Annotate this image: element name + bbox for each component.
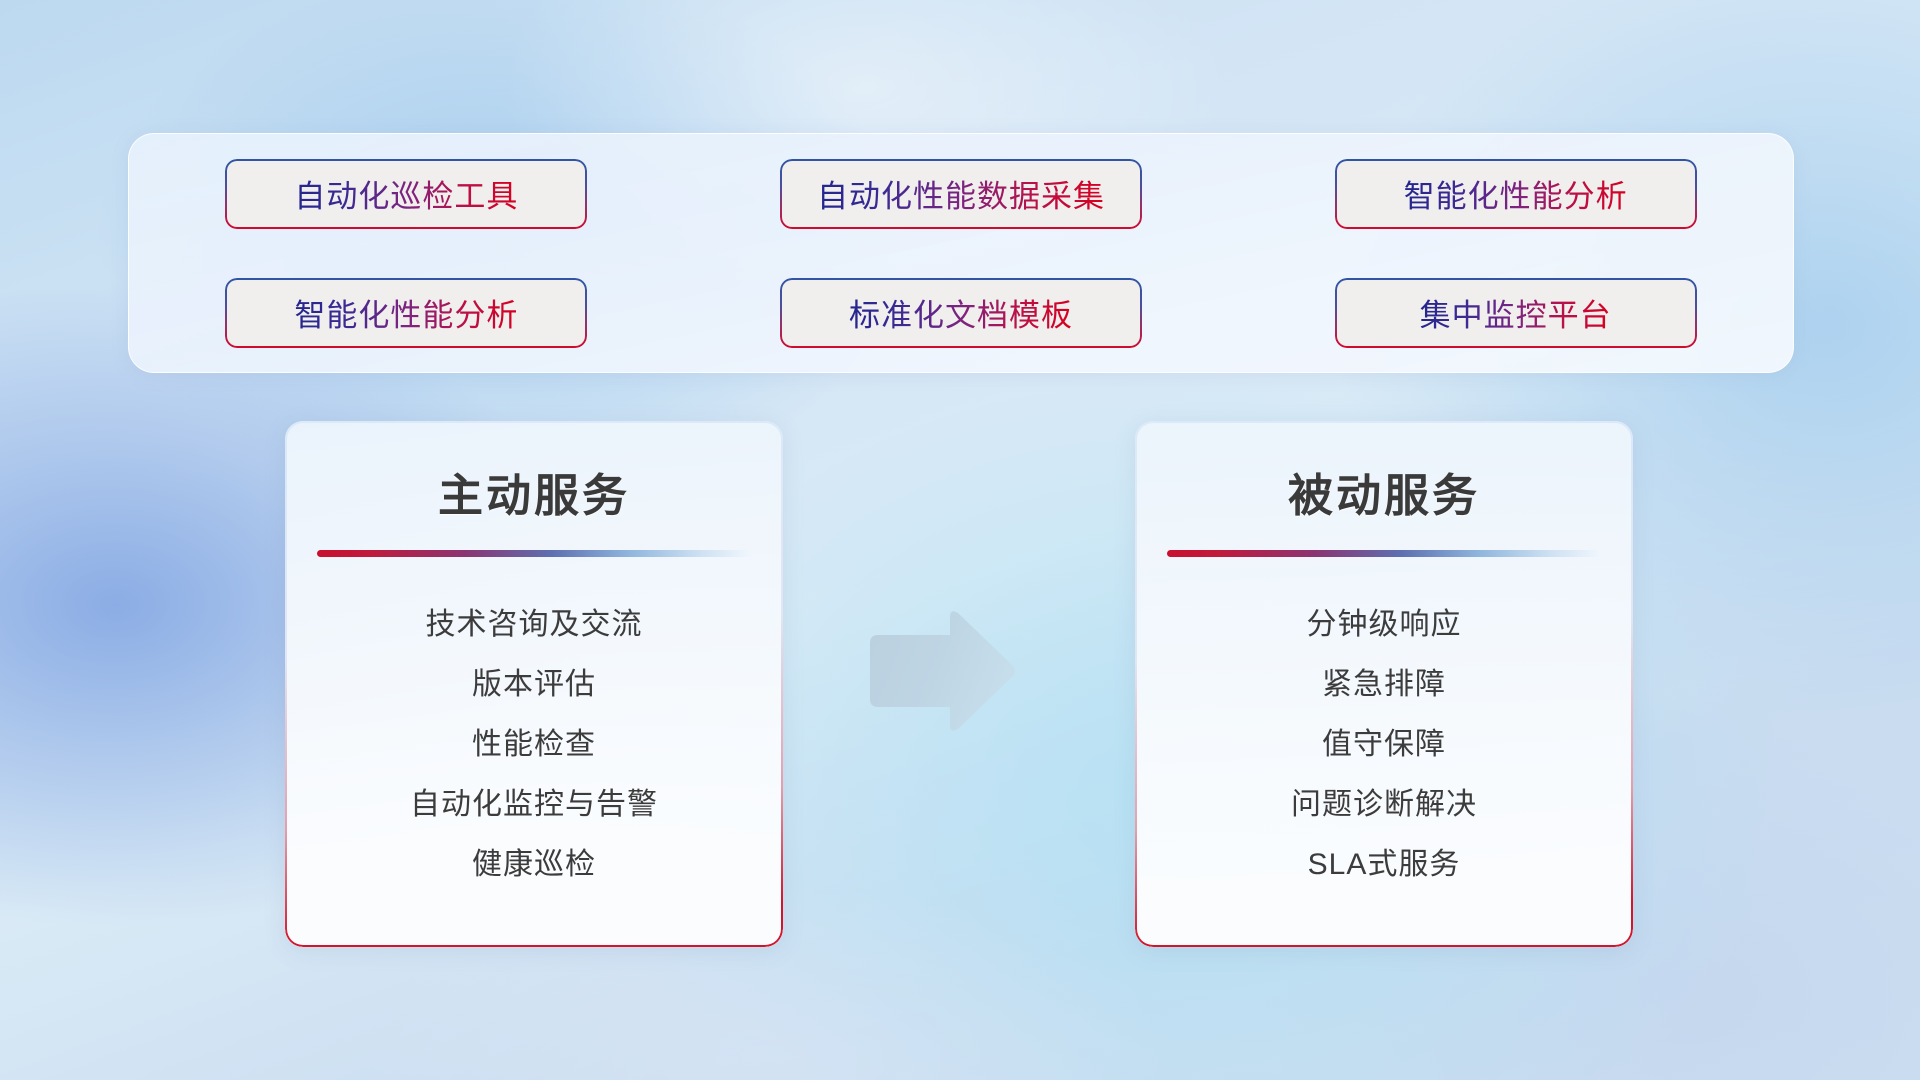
- pill-label: 自动化巡检工具: [294, 171, 518, 216]
- card-title: 被动服务: [1135, 421, 1633, 524]
- pill-grid: 自动化巡检工具 自动化性能数据采集 智能化性能分析 智能化性能分析 标准化文档模…: [129, 134, 1793, 372]
- pill-centralized-monitoring-platform[interactable]: 集中监控平台: [1337, 280, 1695, 346]
- reactive-service-list: 分钟级响应 紧急排障 值守保障 问题诊断解决 SLA式服务: [1135, 557, 1633, 895]
- list-item: 版本评估: [285, 655, 783, 715]
- pill-label: 智能化性能分析: [1404, 171, 1628, 216]
- proactive-service-card[interactable]: 主动服务 技术咨询及交流 版本评估 性能检查 自动化监控与告警 健康巡检: [285, 421, 783, 947]
- card-title: 主动服务: [285, 421, 783, 524]
- pill-label: 自动化性能数据采集: [817, 171, 1105, 216]
- pill-label: 标准化文档模板: [849, 290, 1073, 335]
- pill-intelligent-performance-analysis-top[interactable]: 智能化性能分析: [1337, 161, 1695, 227]
- list-item: 问题诊断解决: [1135, 775, 1633, 835]
- list-item: 健康巡检: [285, 835, 783, 895]
- list-item: 分钟级响应: [1135, 595, 1633, 655]
- card-divider: [317, 550, 751, 557]
- list-item: 紧急排障: [1135, 655, 1633, 715]
- list-item: 技术咨询及交流: [285, 595, 783, 655]
- list-item: SLA式服务: [1135, 835, 1633, 895]
- reactive-service-card[interactable]: 被动服务 分钟级响应 紧急排障 值守保障 问题诊断解决 SLA式服务: [1135, 421, 1633, 947]
- pill-label: 集中监控平台: [1420, 290, 1612, 335]
- pill-intelligent-performance-analysis-bottom[interactable]: 智能化性能分析: [227, 280, 585, 346]
- pill-automated-inspection-tool[interactable]: 自动化巡检工具: [227, 161, 585, 227]
- card-divider: [1167, 550, 1601, 557]
- pill-standardized-document-template[interactable]: 标准化文档模板: [782, 280, 1140, 346]
- list-item: 性能检查: [285, 715, 783, 775]
- pill-automated-performance-data-collection[interactable]: 自动化性能数据采集: [782, 161, 1140, 227]
- list-item: 值守保障: [1135, 715, 1633, 775]
- right-arrow-icon: [866, 607, 1018, 735]
- capability-pill-panel: 自动化巡检工具 自动化性能数据采集 智能化性能分析 智能化性能分析 标准化文档模…: [128, 133, 1794, 373]
- list-item: 自动化监控与告警: [285, 775, 783, 835]
- pill-label: 智能化性能分析: [294, 290, 518, 335]
- proactive-service-list: 技术咨询及交流 版本评估 性能检查 自动化监控与告警 健康巡检: [285, 557, 783, 895]
